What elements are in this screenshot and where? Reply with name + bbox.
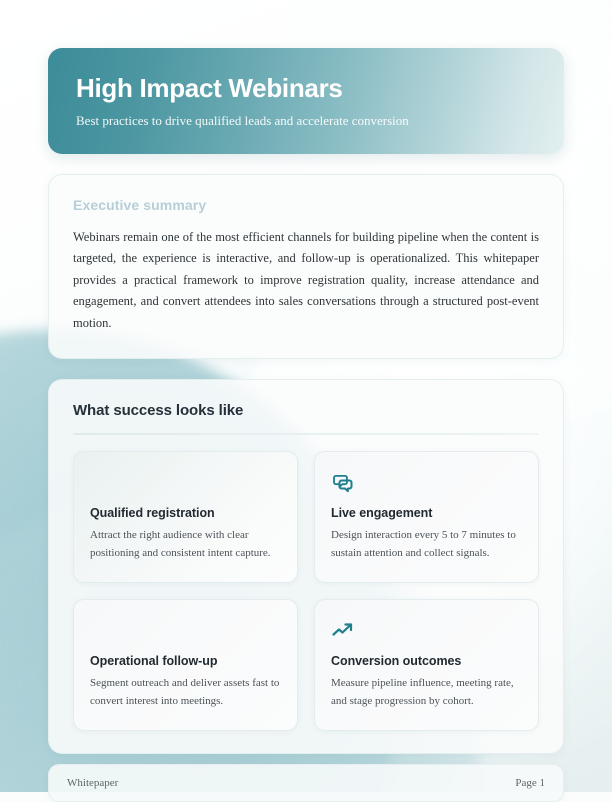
card-description: Segment outreach and deliver assets fast… (90, 675, 281, 711)
page-subtitle: Best practices to drive qualified leads … (76, 113, 536, 130)
document-page: High Impact Webinars Best practices to d… (0, 0, 612, 792)
card-title: Operational follow-up (90, 654, 281, 668)
card-description: Measure pipeline influence, meeting rate… (331, 675, 522, 711)
page-footer: Whitepaper Page 1 (48, 764, 564, 802)
card-title: Conversion outcomes (331, 654, 522, 668)
executive-summary-panel: Executive summary Webinars remain one of… (48, 174, 564, 360)
success-card-grid: Qualified registration Attract the right… (67, 451, 545, 731)
header-banner: High Impact Webinars Best practices to d… (48, 48, 564, 154)
card-icon-placeholder (90, 468, 281, 498)
trending-up-icon (331, 616, 522, 646)
card-title: Qualified registration (90, 506, 281, 520)
footer-page-number: Page 1 (515, 777, 545, 789)
card-icon-placeholder (90, 616, 281, 646)
card-description: Attract the right audience with clear po… (90, 527, 281, 563)
footer-left-label: Whitepaper (67, 777, 118, 789)
success-panel: What success looks like Qualified regist… (48, 379, 564, 754)
layout-spacer (48, 754, 564, 764)
page-title: High Impact Webinars (76, 74, 536, 104)
executive-summary-body: Webinars remain one of the most efficien… (73, 227, 539, 335)
card-title: Live engagement (331, 506, 522, 520)
success-card: Live engagement Design interaction every… (314, 451, 539, 583)
success-card: Operational follow-up Segment outreach a… (73, 599, 298, 731)
executive-summary-heading: Executive summary (73, 197, 539, 213)
section-divider (73, 433, 539, 435)
success-card: Qualified registration Attract the right… (73, 451, 298, 583)
chat-bubbles-icon (331, 468, 522, 498)
success-section-heading: What success looks like (73, 402, 545, 419)
success-card: Conversion outcomes Measure pipeline inf… (314, 599, 539, 731)
card-description: Design interaction every 5 to 7 minutes … (331, 527, 522, 563)
